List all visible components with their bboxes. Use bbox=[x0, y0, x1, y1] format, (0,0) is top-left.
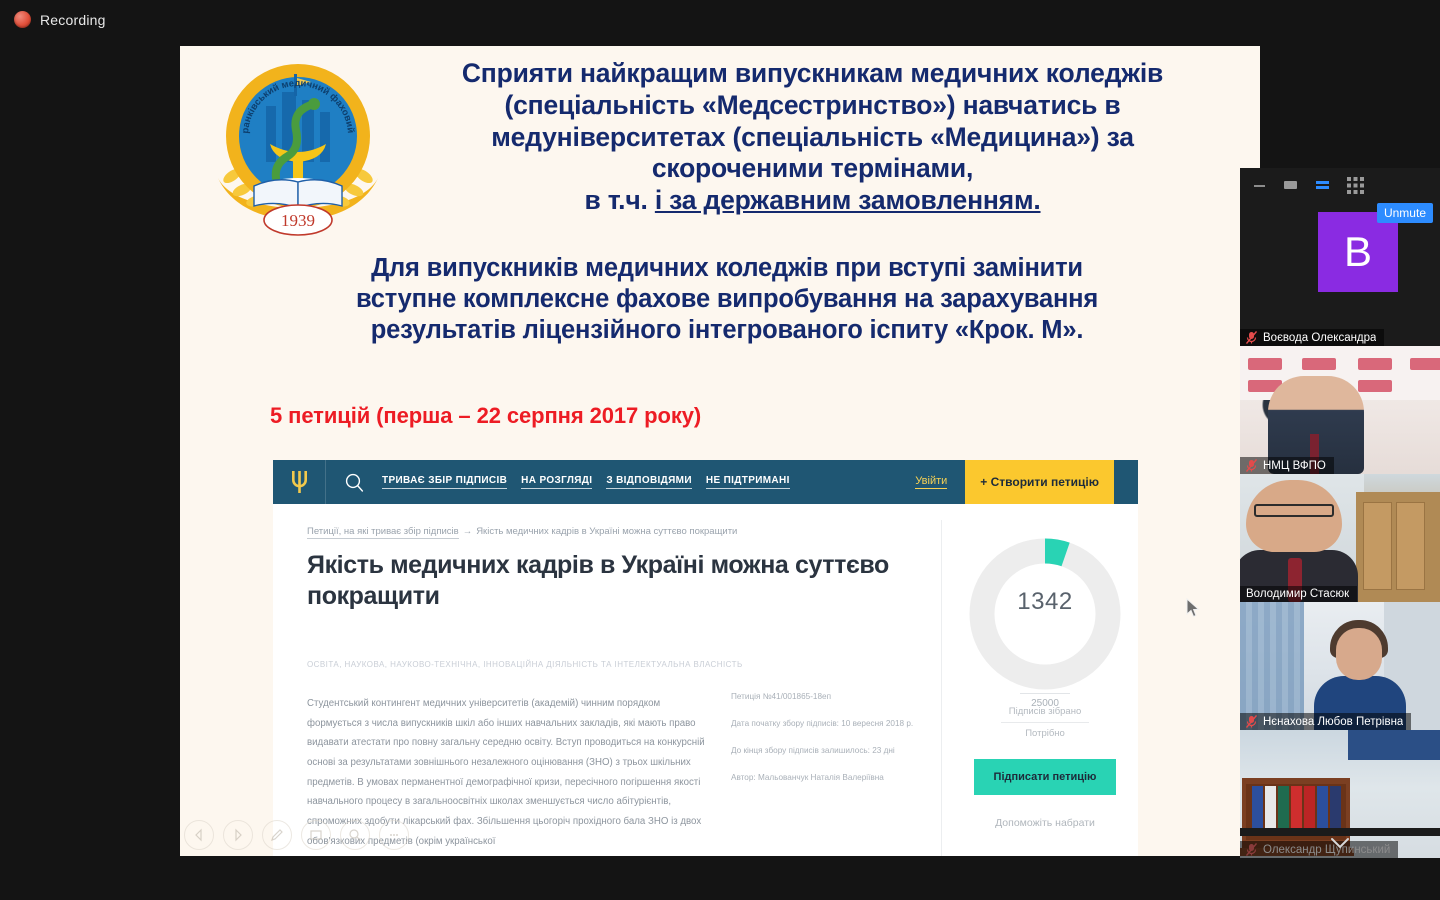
chevron-down-icon[interactable] bbox=[1329, 836, 1351, 850]
participant-name: Воєвода Олександра bbox=[1263, 332, 1376, 344]
slide-title-line-5: в т.ч. і за державним замовленням. bbox=[380, 185, 1245, 217]
slide-red-note: 5 петицій (перша – 22 серпня 2017 року) bbox=[270, 403, 701, 429]
microphone-muted-icon bbox=[1246, 331, 1257, 344]
breadcrumb-current: Якість медичних кадрів в Україні можна с… bbox=[476, 526, 737, 537]
more-options-icon[interactable] bbox=[379, 820, 409, 850]
screen: Recording bbox=[0, 0, 1440, 900]
microphone-muted-icon bbox=[1246, 843, 1257, 856]
create-petition-button[interactable]: + Створити петицію bbox=[965, 460, 1114, 504]
svg-text:1939: 1939 bbox=[281, 211, 315, 230]
recording-label: Recording bbox=[40, 12, 106, 28]
panel-filler bbox=[1240, 828, 1440, 836]
participant-tile-stasyuk[interactable]: Володимир Стасюк bbox=[1240, 474, 1440, 602]
gallery-grid-icon[interactable] bbox=[1347, 177, 1364, 194]
participant-name: Володимир Стасюк bbox=[1246, 588, 1349, 600]
signature-donut-chart: 1342 25000 bbox=[969, 538, 1121, 690]
slide-title-line-1: Сприяти найкращим випускникам медичних к… bbox=[380, 58, 1245, 90]
participant-video bbox=[1240, 602, 1440, 730]
nav-tab-answered[interactable]: З ВІДПОВІДЯМИ bbox=[606, 475, 692, 489]
sign-petition-button[interactable]: Підписати петицію bbox=[974, 759, 1116, 795]
participant-video bbox=[1240, 346, 1440, 474]
participant-name: Нєнахова Любов Петрівна bbox=[1263, 716, 1403, 728]
unmute-button[interactable]: Unmute bbox=[1377, 203, 1433, 223]
navbar-right: Увійти + Створити петицію bbox=[915, 460, 1138, 504]
donut-divider bbox=[1020, 693, 1070, 694]
college-emblem-icon: 1939 Івано-Франківський медичний фаховий… bbox=[208, 58, 388, 243]
zoom-window-controls bbox=[1240, 168, 1440, 202]
prev-slide-icon[interactable] bbox=[184, 820, 214, 850]
breadcrumb-arrow-icon: → bbox=[463, 526, 473, 537]
slide-title-line-2: (спеціальність «Медсестринство») навчати… bbox=[380, 90, 1245, 122]
navbar-endcap bbox=[1114, 460, 1138, 504]
slide-grid-icon[interactable] bbox=[301, 820, 331, 850]
glasses-icon bbox=[1254, 504, 1334, 517]
petition-site-screenshot: ТРИВАЄ ЗБІР ПІДПИСІВ НА РОЗГЛЯДІ З ВІДПО… bbox=[273, 460, 1138, 856]
petition-days-left: До кінця збору підписів залишилось: 23 д… bbox=[731, 746, 931, 756]
petition-site-navbar: ТРИВАЄ ЗБІР ПІДПИСІВ НА РОЗГЛЯДІ З ВІДПО… bbox=[273, 460, 1138, 504]
petition-category: ОСВІТА, НАУКОВА, НАУКОВО-ТЕХНІЧНА, ІННОВ… bbox=[307, 660, 907, 669]
panel-divider bbox=[941, 520, 942, 856]
slide-title-line-4: скороченими термінами, bbox=[380, 153, 1245, 185]
microphone-muted-icon bbox=[1246, 715, 1257, 728]
petition-title: Якість медичних кадрів в Україні можна с… bbox=[307, 550, 897, 611]
caption-divider bbox=[1001, 722, 1089, 723]
recording-dot-icon bbox=[14, 11, 31, 28]
shared-slide: 1939 Івано-Франківський медичний фаховий… bbox=[180, 46, 1260, 856]
participant-name-bar: Олександр Щупинський bbox=[1240, 841, 1398, 858]
breadcrumb: Петиції, на які триває збір підписів→Які… bbox=[307, 526, 737, 537]
participant-tile-shchupynskyi[interactable]: Олександр Щупинський bbox=[1240, 730, 1440, 858]
pen-icon[interactable] bbox=[262, 820, 292, 850]
slide-title: Сприяти найкращим випускникам медичних к… bbox=[380, 58, 1245, 217]
petition-nav-tabs: ТРИВАЄ ЗБІР ПІДПИСІВ НА РОЗГЛЯДІ З ВІДПО… bbox=[382, 475, 790, 489]
petition-page-body: Петиції, на які триває збір підписів→Які… bbox=[273, 504, 1138, 856]
participant-tile-nenakhova[interactable]: Нєнахова Любов Петрівна bbox=[1240, 602, 1440, 730]
breadcrumb-parent[interactable]: Петиції, на які триває збір підписів bbox=[307, 526, 459, 539]
slide-subtitle-line-1: Для випускників медичних коледжів при вс… bbox=[262, 253, 1192, 284]
nav-tab-collecting[interactable]: ТРИВАЄ ЗБІР ПІДПИСІВ bbox=[382, 475, 507, 489]
next-slide-icon[interactable] bbox=[223, 820, 253, 850]
split-view-icon[interactable] bbox=[1315, 179, 1331, 191]
help-collect-text: Допоможіть набрати bbox=[961, 817, 1129, 829]
search-icon[interactable] bbox=[326, 473, 382, 492]
participant-name: НМЦ ВФПО bbox=[1263, 460, 1326, 472]
petition-author: Автор: Мальованчук Наталія Валеріївна bbox=[731, 773, 931, 783]
slide-subtitle-line-2: вступне комплексне фахове випробування н… bbox=[262, 284, 1192, 315]
slide-title-line-3: медуніверситетах (спеціальність «Медицин… bbox=[380, 122, 1245, 154]
signatures-collected-value: 1342 bbox=[969, 588, 1121, 616]
slide-title-line-5-prefix: в т.ч. bbox=[584, 185, 654, 215]
login-link[interactable]: Увійти bbox=[915, 475, 947, 489]
slide-title-line-5-underlined: і за державним замовленням. bbox=[655, 185, 1041, 215]
video-background-blinds bbox=[1240, 602, 1304, 730]
minimize-icon[interactable] bbox=[1253, 179, 1267, 191]
maximize-icon[interactable] bbox=[1283, 179, 1299, 191]
participant-name-bar: НМЦ ВФПО bbox=[1240, 457, 1334, 474]
participant-name-bar: Нєнахова Любов Петрівна bbox=[1240, 713, 1411, 730]
microphone-muted-icon bbox=[1246, 459, 1257, 472]
zoom-participant-panel: Unmute В Воєвода Олександра bbox=[1240, 168, 1440, 836]
presentation-toolbar bbox=[184, 820, 409, 850]
video-background-cabinet bbox=[1356, 492, 1440, 602]
participant-tile-voevoda[interactable]: В Воєвода Олександра bbox=[1240, 202, 1440, 346]
participant-head bbox=[1336, 628, 1382, 680]
petition-number: Петиція №41/001865-18еп bbox=[731, 692, 931, 702]
video-background-person bbox=[1348, 730, 1440, 760]
nav-tab-under-review[interactable]: НА РОЗГЛЯДІ bbox=[521, 475, 592, 489]
participant-tile-nmc[interactable]: НМЦ ВФПО bbox=[1240, 346, 1440, 474]
recording-bar: Recording bbox=[0, 0, 1440, 46]
slide-subtitle-line-3: результатів ліцензійного інтегрованого і… bbox=[262, 315, 1192, 346]
signatures-goal-value: 25000 bbox=[969, 698, 1121, 709]
nav-tab-unsupported[interactable]: НЕ ПІДТРИМАНІ bbox=[706, 475, 790, 489]
mouse-pointer bbox=[1186, 598, 1200, 618]
petition-metadata: Петиція №41/001865-18еп Дата початку збо… bbox=[731, 692, 931, 799]
participant-name-bar: Володимир Стасюк bbox=[1240, 586, 1357, 602]
participant-name-bar: Воєвода Олександра bbox=[1240, 329, 1384, 346]
trident-icon bbox=[273, 470, 325, 494]
slide-subtitle: Для випускників медичних коледжів при вс… bbox=[262, 253, 1192, 346]
zoom-icon[interactable] bbox=[340, 820, 370, 850]
participant-video bbox=[1240, 474, 1440, 602]
avatar: В bbox=[1318, 212, 1398, 292]
recording-indicator: Recording bbox=[14, 11, 106, 28]
petition-start-date: Дата початку збору підписів: 10 вересня … bbox=[731, 719, 931, 729]
signature-panel: 1342 25000 Підписів зібрано Потрібно Під… bbox=[961, 522, 1129, 829]
participant-name: Олександр Щупинський bbox=[1263, 844, 1390, 856]
signatures-needed-caption: Потрібно bbox=[961, 728, 1129, 739]
